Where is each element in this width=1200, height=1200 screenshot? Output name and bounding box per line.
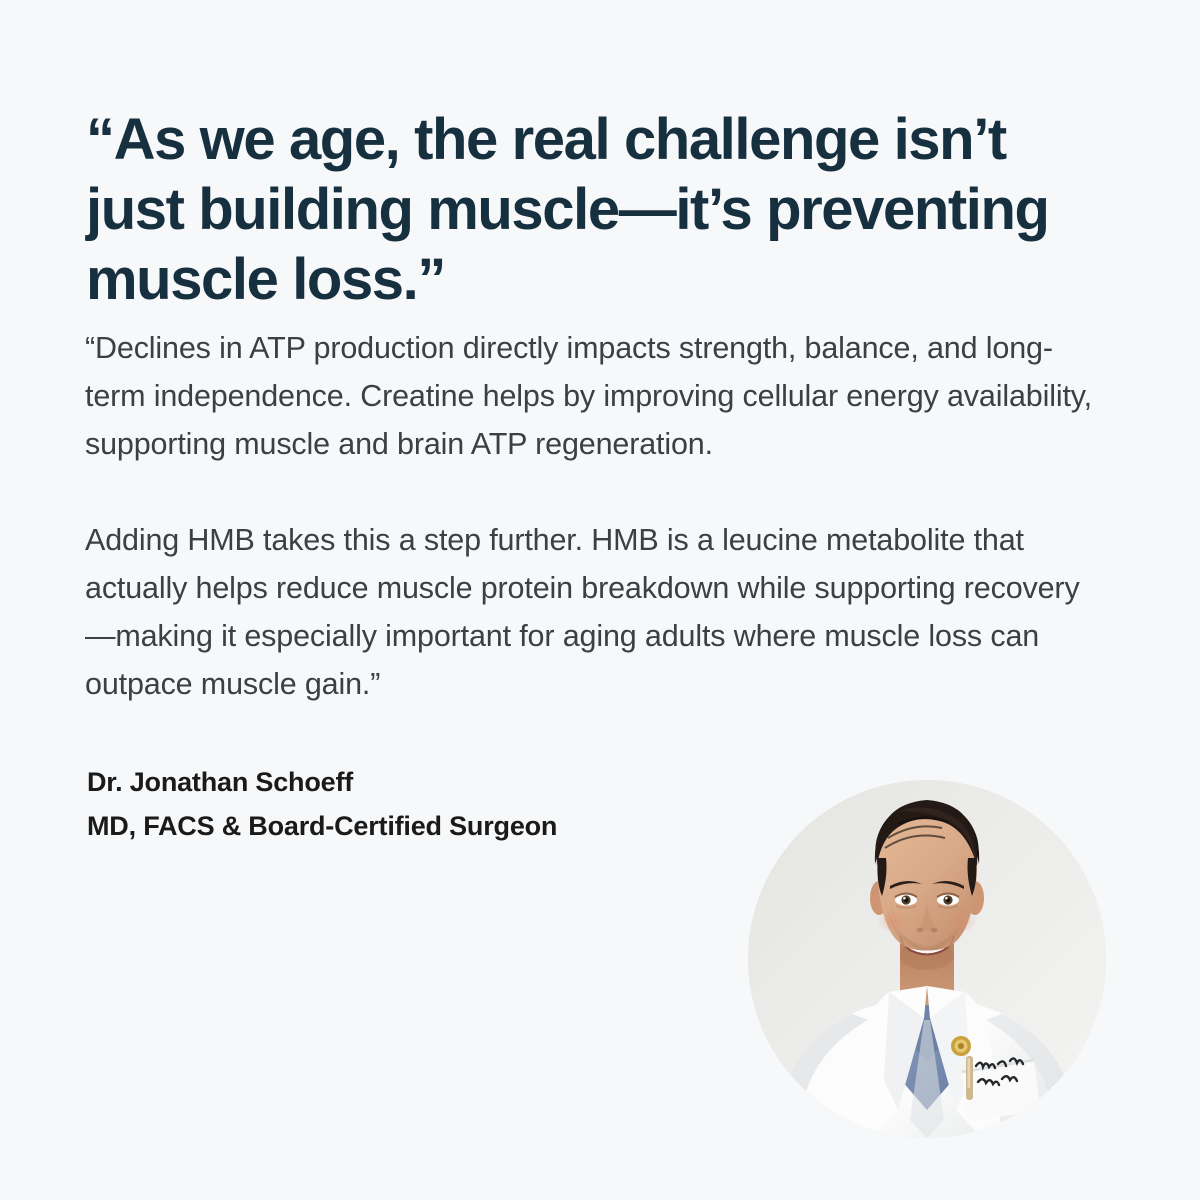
quote-card: “As we age, the real challenge isn’t jus… [0,0,1200,1200]
attribution-name: Dr. Jonathan Schoeff [87,760,557,804]
doctor-portrait-image [748,780,1106,1138]
quote-body: “Declines in ATP production directly imp… [85,324,1095,708]
avatar [748,780,1106,1138]
page-title: “As we age, the real challenge isn’t jus… [86,105,1086,315]
quote-paragraph-1: “Declines in ATP production directly imp… [85,324,1095,468]
quote-paragraph-2: Adding HMB takes this a step further. HM… [85,516,1095,708]
attribution: Dr. Jonathan Schoeff MD, FACS & Board-Ce… [87,760,557,848]
attribution-credentials: MD, FACS & Board-Certified Surgeon [87,804,557,848]
